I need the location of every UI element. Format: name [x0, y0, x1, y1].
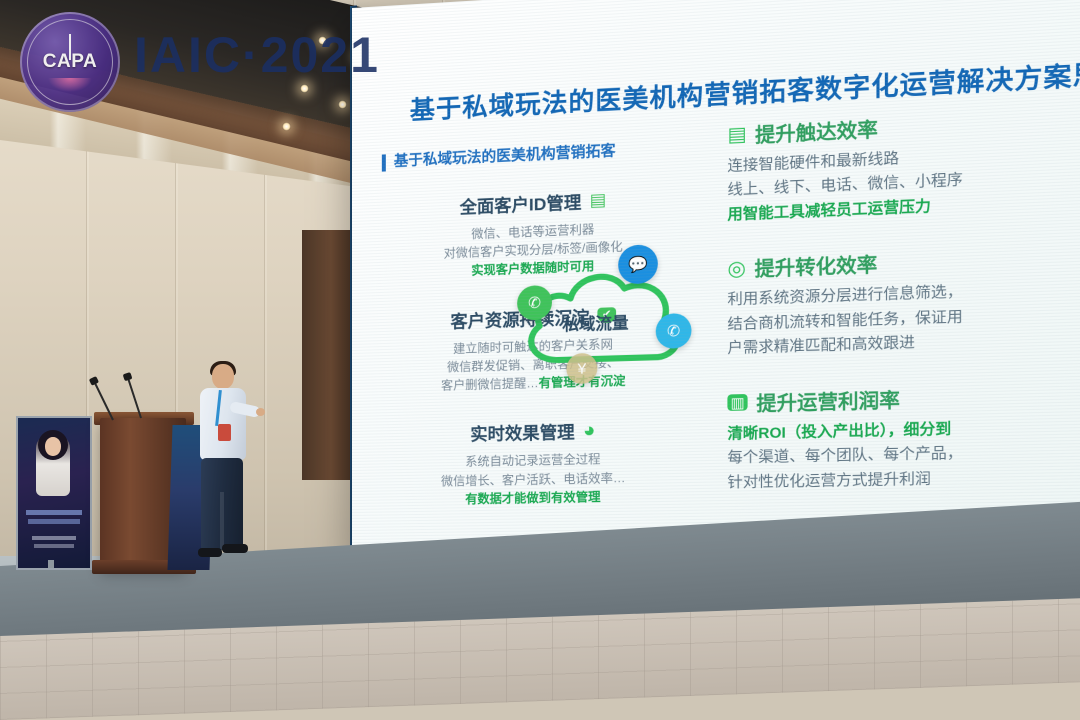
banner-stand-foot	[48, 560, 54, 568]
event-watermark: IAIC·2021	[134, 26, 380, 84]
banner-text-bar	[32, 536, 76, 540]
right-block-heading: 提升转化效率	[754, 250, 877, 283]
pie-chart-icon: ◕	[583, 420, 596, 441]
right-block-profit-rate: ▥ 提升运营利润率 清晰ROI（投入产出比），细分到 每个渠道、每个团队、每个产…	[727, 380, 1080, 496]
id-card-icon: ▤	[590, 191, 607, 209]
right-feature-column: ▤ 提升触达效率 连接智能硬件和最新线路 线上、线下、电话、微信、小程序 用智能…	[727, 104, 1080, 523]
private-traffic-cloud-diagram: 私域流量 ✆ 💬 ✆ ¥	[503, 233, 721, 409]
downlight-icon	[338, 100, 347, 109]
left-block-heading-row: 全面客户ID管理 ▤	[376, 183, 694, 222]
banner-text-bar	[34, 544, 74, 548]
right-block-heading: 提升触达效率	[755, 114, 878, 148]
slide-content: 基于私域玩法的医美机构营销拓客数字化运营解决方案思路 基于私域玩法的医美机构营销…	[352, 0, 1080, 564]
downlight-icon	[300, 84, 309, 93]
left-block-heading-row: 实时效果管理 ◕	[376, 415, 694, 448]
presenter-shoe	[222, 544, 248, 553]
presenter	[186, 364, 256, 569]
target-icon: ◎	[727, 258, 746, 279]
phone-card-icon: ▤	[727, 125, 746, 146]
capa-logo-wings	[48, 78, 92, 92]
right-block-reach-efficiency: ▤ 提升触达效率 连接智能硬件和最新线路 线上、线下、电话、微信、小程序 用智能…	[727, 104, 1080, 229]
left-block-heading: 全面客户ID管理	[460, 188, 582, 219]
right-block-conversion-efficiency: ◎ 提升转化效率 利用系统资源分层进行信息筛选， 结合商机流转和智能任务，保证用…	[727, 242, 1080, 363]
conference-stage-photo: 基于私域玩法的医美机构营销拓客数字化运营解决方案思路 基于私域玩法的医美机构营销…	[0, 0, 1080, 720]
downlight-icon	[282, 122, 291, 131]
led-presentation-screen[interactable]: 基于私域玩法的医美机构营销拓客数字化运营解决方案思路 基于私域玩法的医美机构营销…	[352, 0, 1080, 564]
presenter-shoe	[198, 548, 222, 557]
cloud-label: 私域流量	[562, 309, 628, 336]
presenter-hand	[256, 408, 265, 416]
banner-figure-face	[45, 437, 61, 456]
right-block-heading: 提升运营利润率	[756, 385, 900, 417]
banner-text-bar	[26, 510, 82, 515]
capa-logo: CAPA	[20, 12, 120, 112]
right-block-heading-row: ▥ 提升运营利润率	[727, 380, 1080, 417]
banner-text-bar	[28, 519, 80, 524]
presenter-head	[212, 364, 234, 389]
slide-subtitle: 基于私域玩法的医美机构营销拓客	[382, 138, 723, 172]
capa-logo-text: CAPA	[43, 51, 97, 73]
rollup-banner	[16, 416, 92, 570]
bar-chart-icon: ▥	[727, 394, 747, 411]
left-block-heading: 实时效果管理	[470, 418, 574, 446]
presenter-leg-separation	[220, 492, 224, 550]
right-block-heading-row: ◎ 提升转化效率	[727, 242, 1080, 283]
left-block-realtime-effect: 实时效果管理 ◕ 系统自动记录运营全过程 微信增长、客户活跃、电话效率… 有数据…	[376, 415, 694, 509]
presenter-badge	[218, 424, 231, 441]
